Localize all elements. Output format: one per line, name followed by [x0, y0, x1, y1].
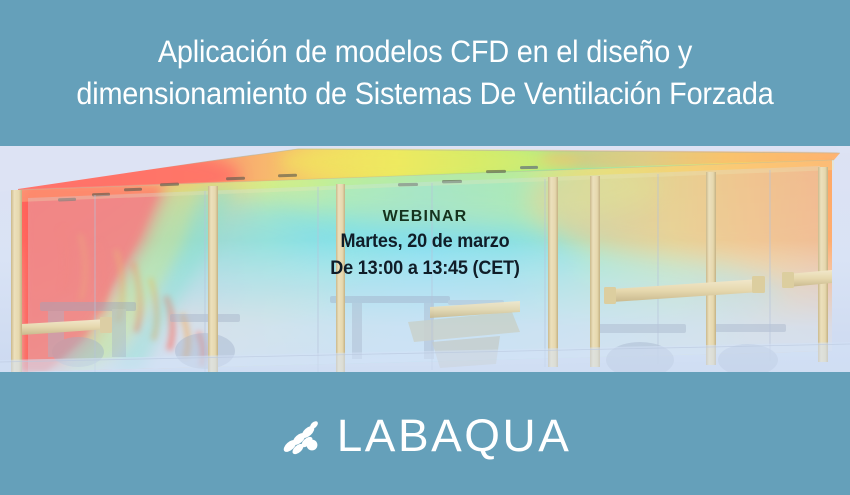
- water-droplets-icon: [281, 415, 323, 457]
- cfd-simulation-image: [0, 146, 850, 372]
- page-title-line-1: Aplicación de modelos CFD en el diseño y: [39, 31, 811, 73]
- footer-band: LABAQUA: [0, 372, 850, 495]
- labaqua-wordmark: LABAQUA: [337, 413, 572, 458]
- page-title: Aplicación de modelos CFD en el diseño y…: [39, 31, 811, 115]
- cfd-render-svg: [0, 146, 850, 372]
- header-band: Aplicación de modelos CFD en el diseño y…: [0, 0, 850, 146]
- page-title-line-2: dimensionamiento de Sistemas De Ventilac…: [39, 73, 811, 115]
- labaqua-logo[interactable]: LABAQUA: [281, 413, 569, 458]
- webinar-poster: Aplicación de modelos CFD en el diseño y…: [0, 0, 850, 495]
